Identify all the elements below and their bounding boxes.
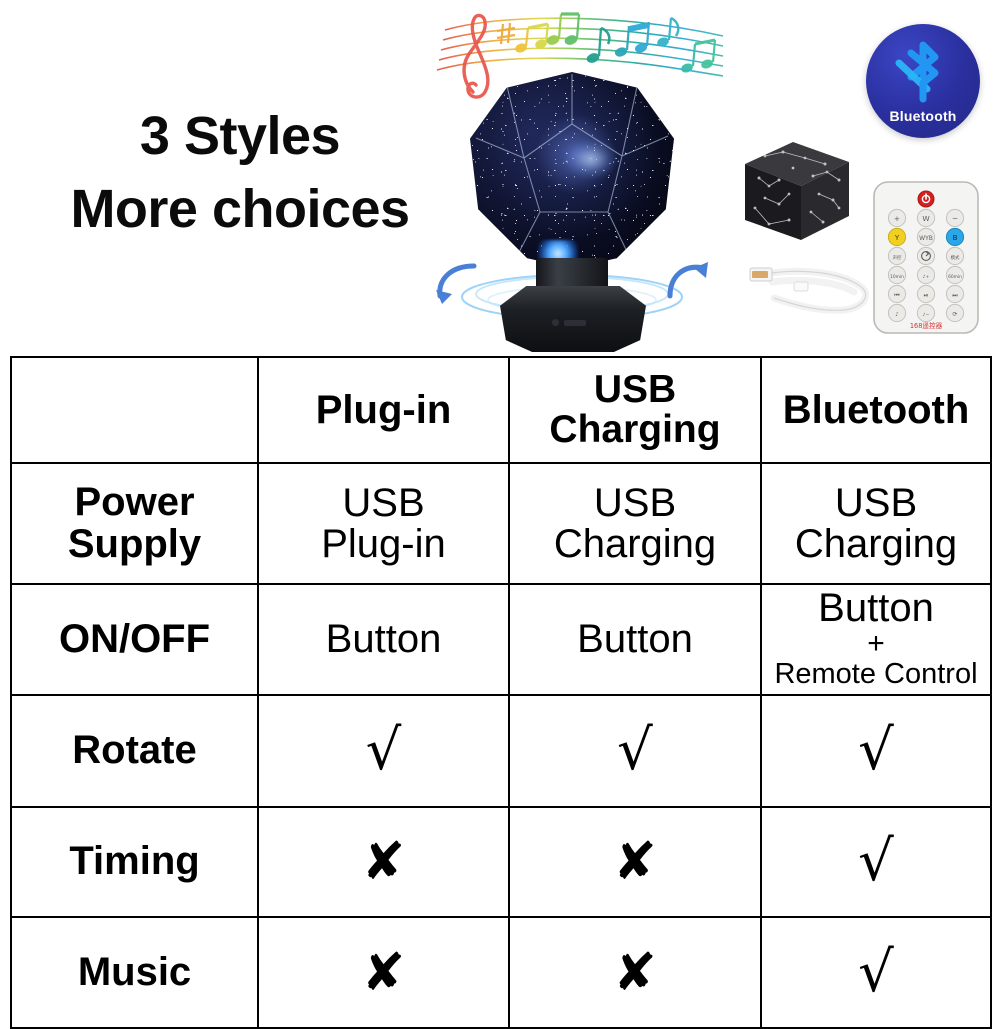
table-header-row: Plug-in USB Charging Bluetooth — [11, 357, 991, 463]
usb-cable — [744, 248, 876, 324]
remote-control[interactable]: + W − Y WYB B 声控 模式 10min ♪+ 60min ⏮ ⏯ ⏭… — [872, 180, 980, 335]
cross-mark-icon: ✘ — [613, 832, 657, 892]
lamp-base — [500, 286, 646, 352]
cell-music-usb: ✘ — [509, 917, 761, 1028]
svg-text:W: W — [922, 214, 930, 223]
svg-text:⟳: ⟳ — [952, 311, 957, 318]
svg-text:⏭: ⏭ — [952, 292, 958, 299]
cell-power-bluetooth: USB Charging — [761, 463, 991, 584]
check-mark-icon: √ — [366, 718, 402, 783]
feature-comparison-table: Plug-in USB Charging Bluetooth Power Sup… — [10, 356, 992, 1029]
cross-mark-icon: ✘ — [362, 832, 406, 892]
header-cell-bluetooth: Bluetooth — [761, 357, 991, 463]
lamp-dodecahedron — [470, 72, 674, 268]
cell-rotate-usb: √ — [509, 695, 761, 807]
lamp-power-button[interactable] — [552, 319, 559, 326]
table-row-power-supply: Power Supply USB Plug-in USB Charging US… — [11, 463, 991, 584]
table-row-on-off: ON/OFF Button Button Button + Remote Con… — [11, 584, 991, 695]
row-label-timing: Timing — [11, 807, 258, 917]
cell-timing-plugin: ✘ — [258, 807, 509, 917]
lamp-inner-glow — [564, 139, 618, 179]
table-row-timing: Timing ✘ ✘ √ — [11, 807, 991, 917]
lamp-usb-port — [564, 320, 586, 326]
rotation-arrow-left-icon — [434, 260, 480, 318]
cell-timing-bluetooth: √ — [761, 807, 991, 917]
row-label-music: Music — [11, 917, 258, 1028]
constellation-gift-box — [735, 128, 855, 246]
svg-text:−: − — [952, 214, 958, 223]
bluetooth-badge: Bluetooth — [866, 24, 980, 138]
svg-text:声控: 声控 — [893, 254, 902, 261]
cell-onoff-bluetooth: Button + Remote Control — [761, 584, 991, 695]
star-projector-lamp — [452, 72, 692, 354]
cell-onoff-usb: Button — [509, 584, 761, 695]
cell-onoff-plugin: Button — [258, 584, 509, 695]
svg-text:+: + — [894, 214, 900, 223]
row-label-on-off: ON/OFF — [11, 584, 258, 695]
remote-footer-label: 168遥控器 — [910, 321, 943, 330]
bluetooth-icon — [893, 39, 953, 105]
cell-rotate-bluetooth: √ — [761, 695, 991, 807]
row-label-power-supply: Power Supply — [11, 463, 258, 584]
rotation-arrow-right-icon — [664, 260, 710, 318]
table-row-music: Music ✘ ✘ √ — [11, 917, 991, 1028]
bluetooth-badge-label: Bluetooth — [866, 108, 980, 124]
cell-music-plugin: ✘ — [258, 917, 509, 1028]
header-cell-usb-charging: USB Charging — [509, 357, 761, 463]
cell-music-bluetooth: √ — [761, 917, 991, 1028]
cell-timing-usb: ✘ — [509, 807, 761, 917]
cell-power-usb: USB Charging — [509, 463, 761, 584]
svg-text:60min: 60min — [948, 274, 962, 280]
svg-text:♪−: ♪− — [923, 312, 930, 318]
cross-mark-icon: ✘ — [613, 943, 657, 1003]
svg-text:♪: ♪ — [895, 312, 898, 318]
cross-mark-icon: ✘ — [362, 943, 406, 1003]
svg-text:Y: Y — [894, 233, 900, 242]
svg-text:⏮: ⏮ — [894, 292, 900, 299]
row-label-rotate: Rotate — [11, 695, 258, 807]
svg-text:10min: 10min — [890, 274, 904, 280]
cell-rotate-plugin: √ — [258, 695, 509, 807]
headline-line-2: More choices — [40, 173, 440, 246]
svg-text:♪+: ♪+ — [923, 274, 930, 280]
cell-power-plugin: USB Plug-in — [258, 463, 509, 584]
check-mark-icon: √ — [858, 718, 894, 783]
check-mark-icon: √ — [858, 940, 894, 1005]
check-mark-icon: √ — [858, 829, 894, 894]
svg-text:WYB: WYB — [919, 235, 933, 242]
header-cell-plugin: Plug-in — [258, 357, 509, 463]
header-cell-empty — [11, 357, 258, 463]
table-row-rotate: Rotate √ √ √ — [11, 695, 991, 807]
svg-text:⏯: ⏯ — [924, 292, 929, 299]
page-title: 3 Styles More choices — [40, 100, 440, 246]
hero-banner: 3 Styles More choices — [0, 0, 1000, 356]
check-mark-icon: √ — [617, 718, 653, 783]
svg-text:B: B — [952, 233, 957, 242]
svg-text:模式: 模式 — [951, 254, 960, 261]
headline-line-1: 3 Styles — [40, 100, 440, 173]
